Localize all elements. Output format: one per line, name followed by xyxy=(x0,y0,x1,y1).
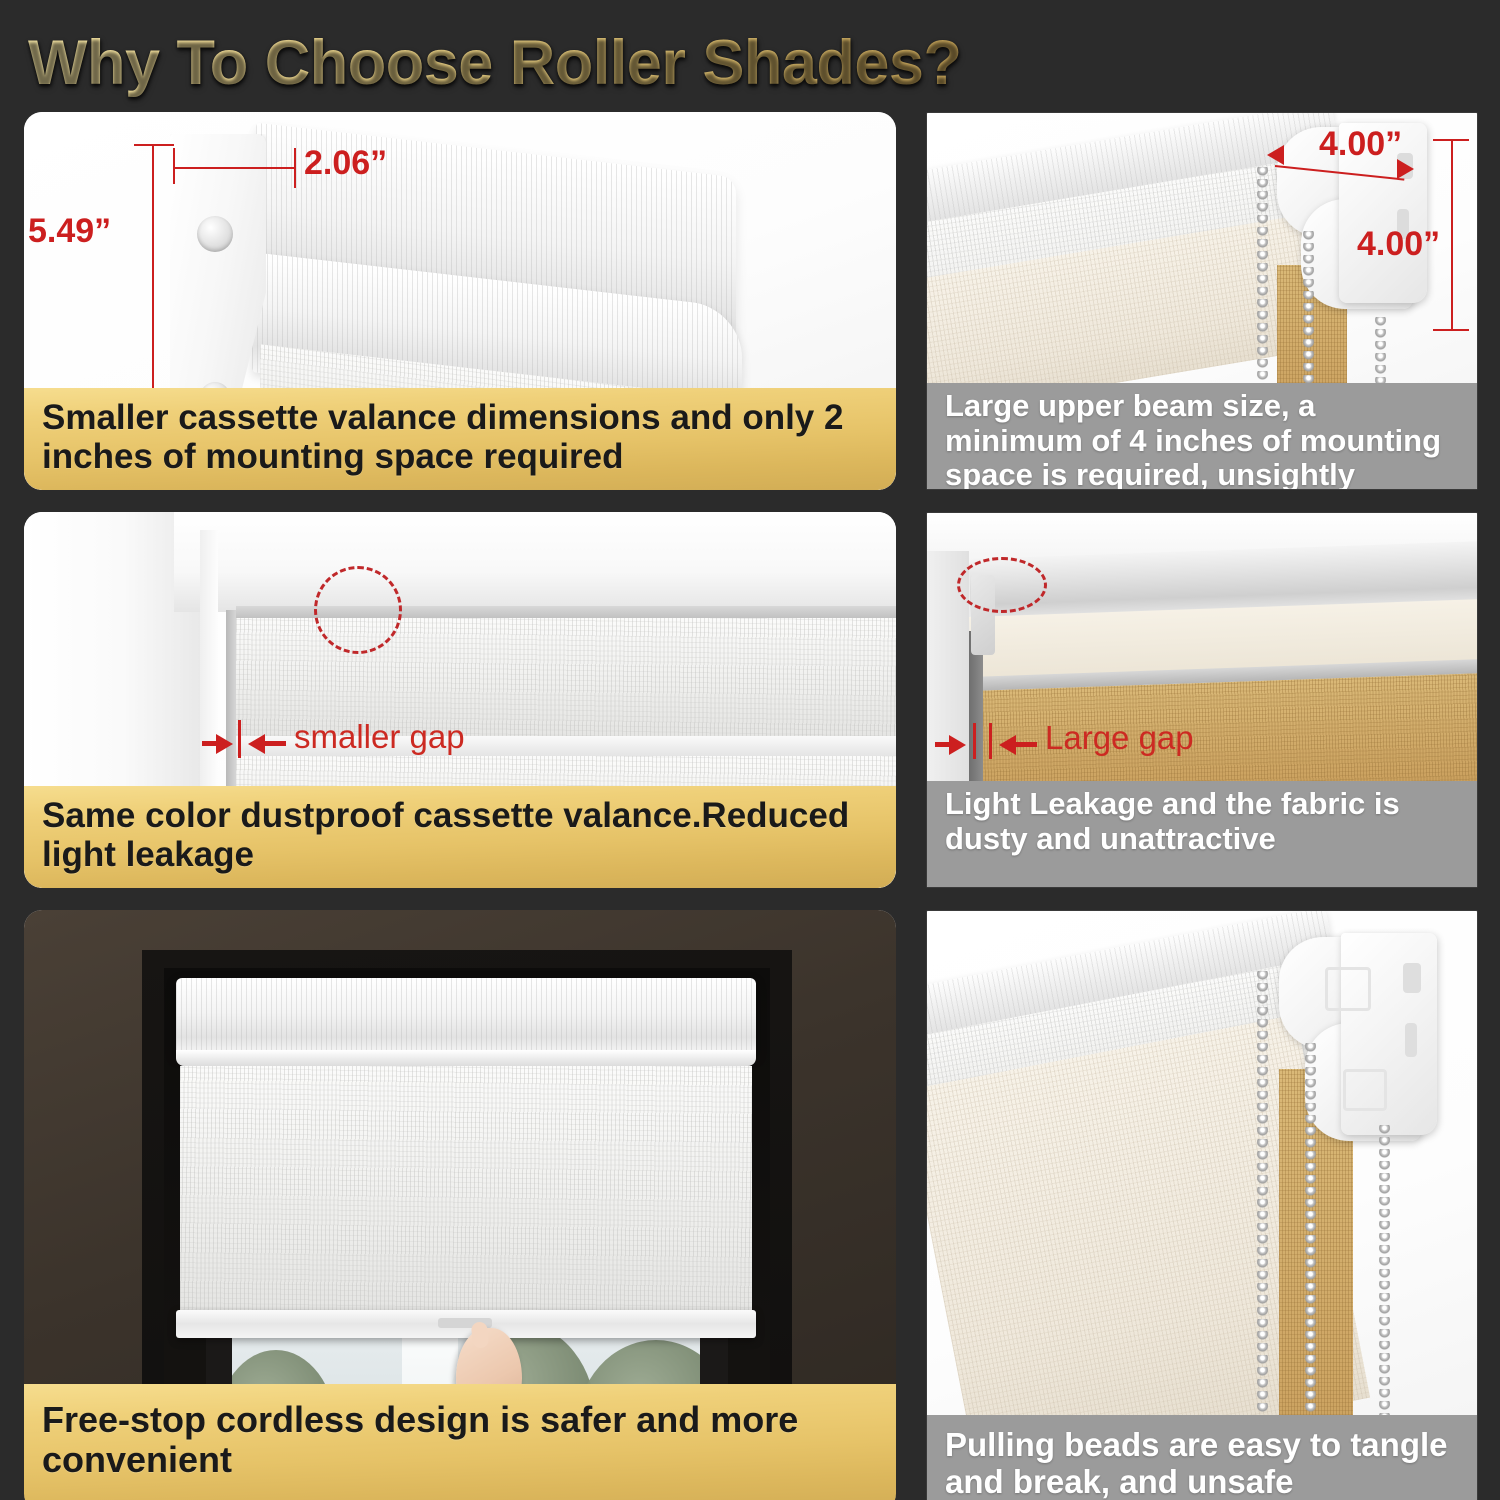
bracket-clutch-knob xyxy=(197,216,233,252)
panel-6-photo xyxy=(927,911,1477,1500)
beam-width-arrow-left xyxy=(1267,145,1284,165)
cassette-valance-head xyxy=(176,978,756,1054)
panel-2-caption: Large upper beam size, a minimum of 4 in… xyxy=(927,383,1477,489)
panel-smaller-gap: smaller gap Same color dustproof cassett… xyxy=(24,512,896,888)
beam-width-label: 4.00” xyxy=(1319,125,1402,164)
mounting-plate-slot-bottom xyxy=(1405,1023,1417,1057)
panel-large-upper-beam: 4.00” 4.00” Large upper beam size, a min… xyxy=(926,112,1478,490)
beam-width-arrow-right xyxy=(1397,159,1414,179)
bead-chain-left xyxy=(1257,167,1268,417)
beam-height-tick-top xyxy=(1433,139,1469,141)
panel-5-caption: Free-stop cordless design is safer and m… xyxy=(24,1384,896,1500)
gap-arrow-right-tail xyxy=(1015,742,1037,747)
beam-height-label: 4.00” xyxy=(1357,225,1440,264)
gap-tick-marker xyxy=(238,720,241,758)
highlight-circle-annotation xyxy=(314,566,402,654)
height-dim-tick-top xyxy=(134,144,174,146)
beam-height-dimension-line xyxy=(1451,139,1453,331)
highlight-circle-annotation xyxy=(957,557,1047,613)
gap-tick-inner xyxy=(973,723,976,759)
width-dimension-label: 2.06” xyxy=(304,144,387,183)
shade-fabric-body xyxy=(180,1066,752,1318)
bracket-emboss-bottom xyxy=(1343,1069,1387,1111)
finger-index xyxy=(471,1321,490,1349)
window-frame-top xyxy=(174,512,896,612)
width-dimension-line xyxy=(174,167,296,169)
bead-chain-middle xyxy=(1305,1043,1316,1471)
gap-arrow-right xyxy=(999,735,1016,755)
panel-4-caption: Light Leakage and the fabric is dusty an… xyxy=(927,781,1477,887)
panel-3-caption: Same color dustproof cassette valance.Re… xyxy=(24,786,896,888)
gap-tick-outer xyxy=(989,723,992,759)
gap-label: Large gap xyxy=(1045,719,1194,757)
comparison-grid: 2.06” 5.49” Smaller cassette valance dim… xyxy=(0,112,1500,1500)
gap-arrow-right xyxy=(248,734,265,754)
beam-height-tick-bottom xyxy=(1433,329,1469,331)
panel-cordless-design: Free-stop cordless design is safer and m… xyxy=(24,910,896,1500)
light-gap-dark xyxy=(969,631,983,801)
page-title: Why To Choose Roller Shades? xyxy=(28,27,961,99)
gap-label: smaller gap xyxy=(294,718,465,756)
page-header: Why To Choose Roller Shades? xyxy=(0,0,1500,112)
panel-1-caption: Smaller cassette valance dimensions and … xyxy=(24,388,896,490)
bead-chain-left xyxy=(1257,971,1268,1471)
gap-arrow-left-tail xyxy=(935,742,953,747)
panel-pulling-beads: Pulling beads are easy to tangle and bre… xyxy=(926,910,1478,1500)
bracket-emboss-top xyxy=(1325,967,1371,1011)
height-dimension-label: 5.49” xyxy=(28,212,111,251)
panel-large-gap: Large gap Light Leakage and the fabric i… xyxy=(926,512,1478,888)
panel-6-caption: Pulling beads are easy to tangle and bre… xyxy=(927,1415,1477,1500)
gap-arrow-right-tail xyxy=(264,741,286,746)
cassette-bottom-lip xyxy=(176,1050,756,1066)
panel-cassette-dimensions: 2.06” 5.49” Smaller cassette valance dim… xyxy=(24,112,896,490)
gap-arrow-left-tail xyxy=(202,741,220,746)
width-dim-tick-right xyxy=(294,148,296,188)
width-dim-tick-left xyxy=(173,148,175,184)
mounting-plate-slot-top xyxy=(1403,963,1421,993)
